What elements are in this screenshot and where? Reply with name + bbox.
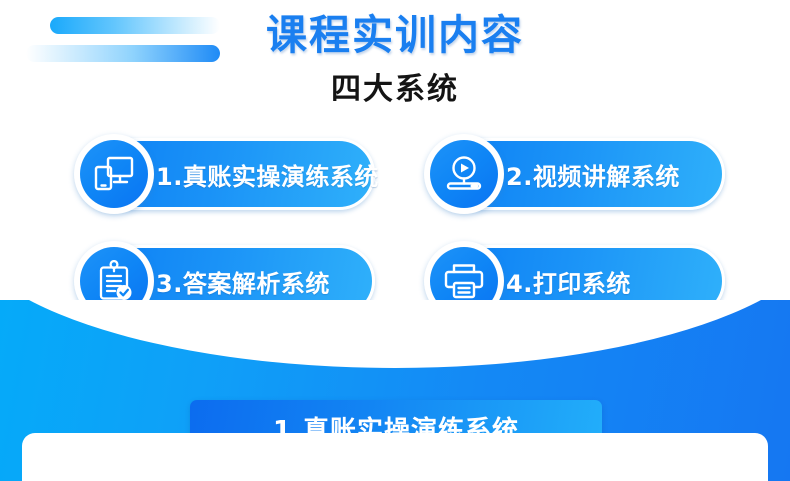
system-card-1[interactable]: 1.真账实操演练系统 bbox=[78, 138, 375, 210]
icon-ring bbox=[74, 134, 154, 214]
page-subtitle: 四大系统 bbox=[0, 70, 790, 110]
icon-ring bbox=[424, 134, 504, 214]
system-card-grid: 1.真账实操演练系统 2.视频讲解系统 bbox=[0, 131, 790, 323]
multi-device-icon bbox=[80, 140, 148, 208]
video-play-icon bbox=[430, 140, 498, 208]
system-card-2[interactable]: 2.视频讲解系统 bbox=[428, 138, 725, 210]
lower-section: 1.真账实操演练系统 bbox=[0, 300, 790, 481]
content-panel bbox=[22, 433, 768, 481]
system-card-label: 1.真账实操演练系统 bbox=[156, 138, 361, 210]
promo-page: 课程实训内容 四大系统 1.真账实操演练系统 bbox=[0, 0, 790, 481]
system-card-label: 2.视频讲解系统 bbox=[506, 138, 711, 210]
page-title: 课程实训内容 bbox=[0, 8, 790, 62]
